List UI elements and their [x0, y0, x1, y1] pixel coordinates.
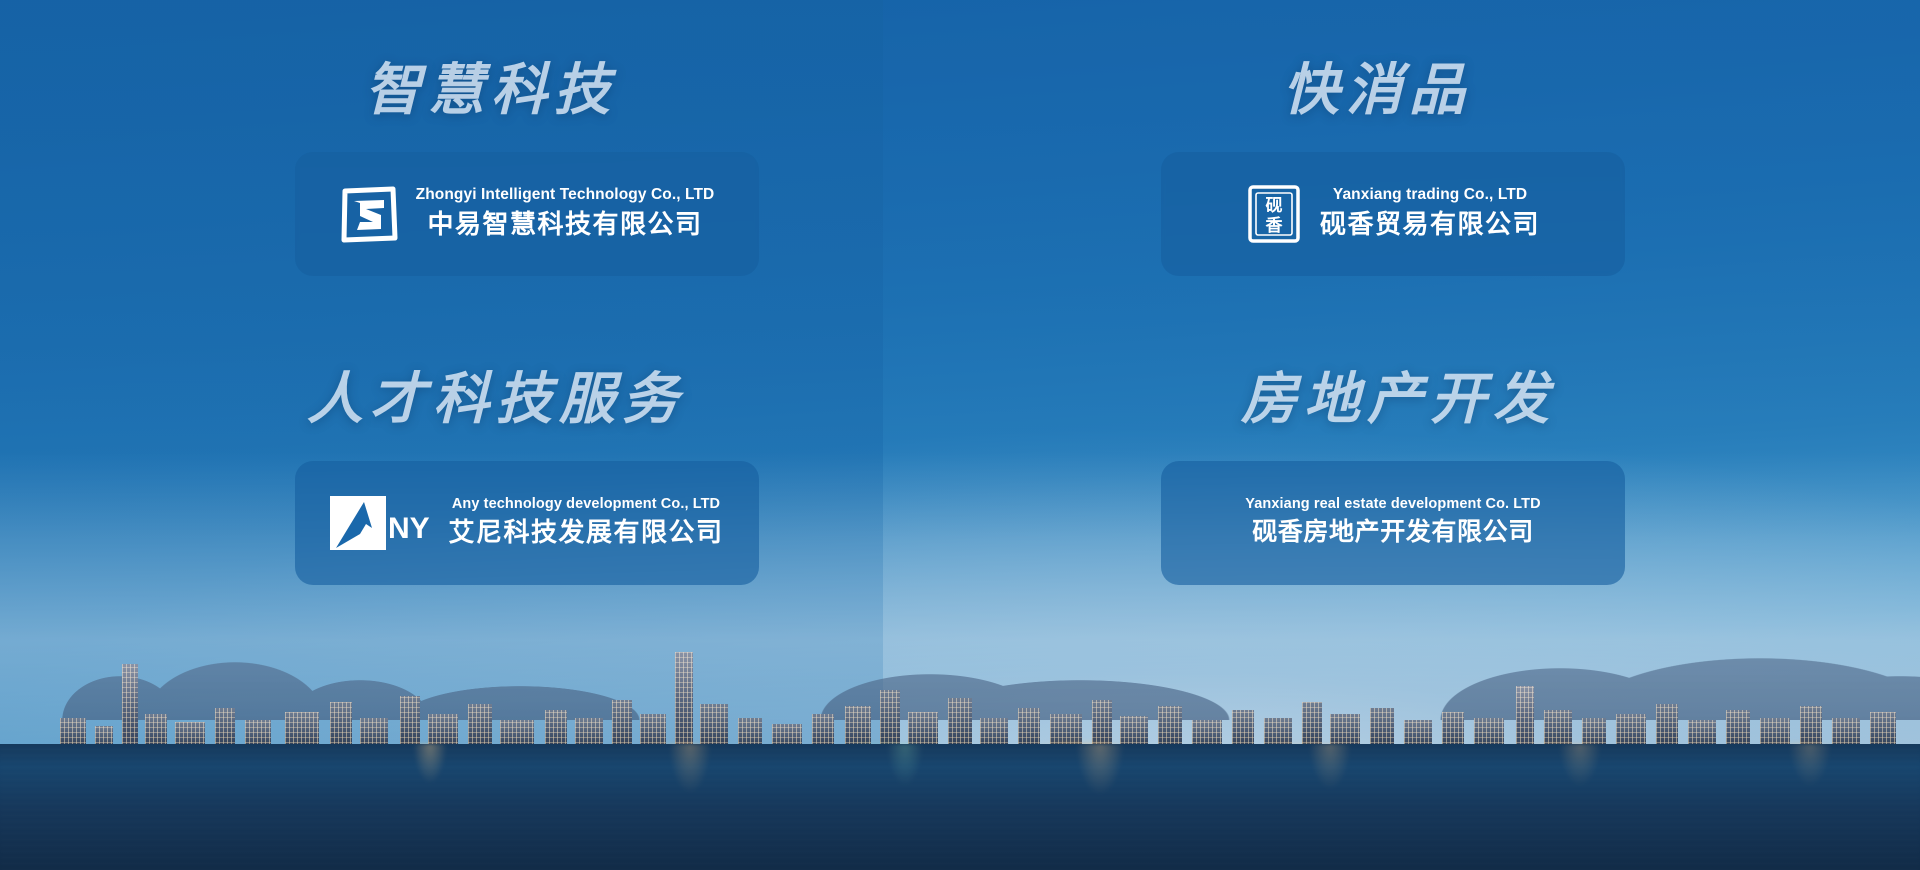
segment-heading-4: 房地产开发	[1241, 371, 1556, 427]
segment-heading-3: 人才科技服务	[307, 371, 685, 427]
segment-rencai-fuwu: 人才科技服务 NY Any technology development Co.…	[295, 371, 828, 680]
segment-zhihui-keji: 智慧科技 Zhongyi Intelligent Technology Co.,…	[295, 62, 828, 371]
zhongyi-seal-icon	[340, 185, 398, 243]
company-name-en-1: Zhongyi Intelligent Technology Co., LTD	[416, 186, 715, 205]
segment-heading-1: 智慧科技	[365, 62, 617, 118]
svg-text:砚: 砚	[1265, 196, 1282, 216]
company-name-en-3: Any technology development Co., LTD	[452, 496, 720, 513]
company-name-block-yanxiang-realestate: Yanxiang real estate development Co. LTD…	[1245, 496, 1540, 549]
company-name-en-2: Yanxiang trading Co., LTD	[1333, 186, 1527, 205]
company-name-block-any: Any technology development Co., LTD 艾尼科技…	[448, 496, 723, 550]
company-name-block-yanxiang-trading: Yanxiang trading Co., LTD 砚香贸易有限公司	[1320, 186, 1540, 242]
svg-text:NY: NY	[388, 512, 430, 545]
any-mountain-icon: NY	[330, 494, 430, 552]
company-name-cn-2: 砚香贸易有限公司	[1320, 207, 1540, 242]
company-name-en-4: Yanxiang real estate development Co. LTD	[1245, 496, 1540, 513]
company-card-zhongyi[interactable]: Zhongyi Intelligent Technology Co., LTD …	[295, 152, 759, 276]
company-card-yanxiang-trading[interactable]: 砚 香 Yanxiang trading Co., LTD 砚香贸易有限公司	[1161, 152, 1625, 276]
segment-kuaixiaopin: 快消品 砚 香 Yanxiang trading Co., LTD 砚香贸易有限…	[828, 62, 1625, 371]
company-name-block-zhongyi: Zhongyi Intelligent Technology Co., LTD …	[416, 186, 715, 242]
segment-heading-2: 快消品	[1283, 62, 1472, 118]
segment-fangdichan: 房地产开发 Yanxiang real estate development C…	[828, 371, 1625, 680]
banner-stage: 智慧科技 Zhongyi Intelligent Technology Co.,…	[0, 0, 1920, 870]
company-name-cn-1: 中易智慧科技有限公司	[427, 207, 702, 242]
business-segments-grid: 智慧科技 Zhongyi Intelligent Technology Co.,…	[0, 0, 1920, 870]
company-name-cn-4: 砚香房地产开发有限公司	[1252, 516, 1534, 550]
company-name-cn-3: 艾尼科技发展有限公司	[448, 515, 723, 550]
company-card-yanxiang-realestate[interactable]: Yanxiang real estate development Co. LTD…	[1161, 461, 1625, 585]
svg-text:香: 香	[1265, 216, 1282, 236]
yanxiang-seal-icon: 砚 香	[1246, 183, 1302, 245]
company-card-any[interactable]: NY Any technology development Co., LTD 艾…	[295, 461, 759, 585]
